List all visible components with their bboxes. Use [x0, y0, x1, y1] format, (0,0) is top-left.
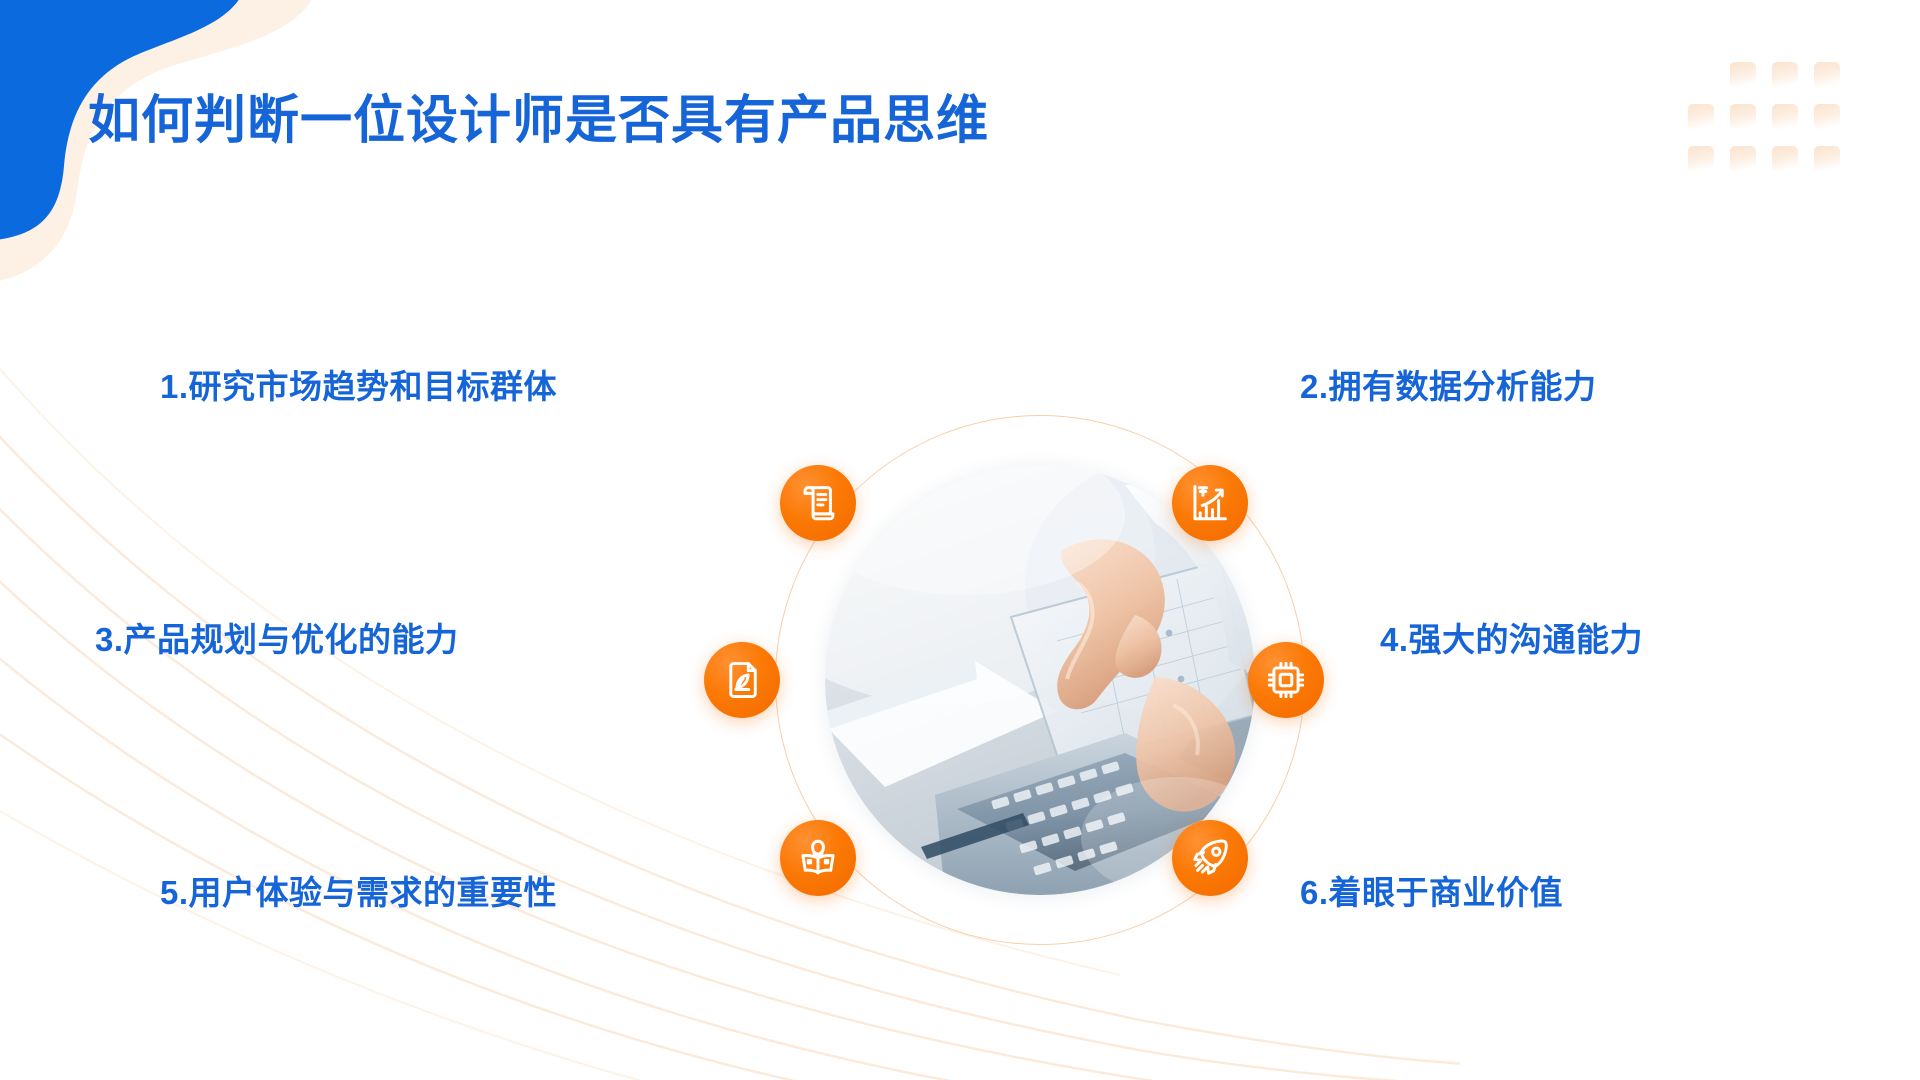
scroll-document-icon [797, 482, 839, 524]
item-label-1: 1.研究市场趋势和目标群体 [160, 360, 557, 408]
item-label-3: 3.产品规划与优化的能力 [95, 613, 459, 661]
rocket-icon [1189, 837, 1231, 879]
icon-badge-scroll-document[interactable] [780, 465, 856, 541]
cpu-chip-icon [1265, 659, 1307, 701]
page-title: 如何判断一位设计师是否具有产品思维 [88, 90, 989, 152]
item-label-5: 5.用户体验与需求的重要性 [160, 866, 557, 914]
icon-badge-bar-chart-growth[interactable] [1172, 465, 1248, 541]
item-label-4: 4.强大的沟通能力 [1380, 613, 1643, 661]
document-quill-icon [721, 659, 763, 701]
slide-canvas: 如何判断一位设计师是否具有产品思维 [0, 0, 1920, 1080]
icon-badge-cpu-chip[interactable] [1248, 642, 1324, 718]
icon-badge-rocket[interactable] [1172, 820, 1248, 896]
icon-badge-person-reading-book[interactable] [780, 820, 856, 896]
bar-chart-growth-icon [1189, 482, 1231, 524]
item-label-6: 6.着眼于商业价值 [1300, 866, 1563, 914]
dot-grid-decoration [1662, 56, 1872, 186]
person-reading-book-icon [797, 837, 839, 879]
capability-wheel [760, 400, 1320, 960]
icon-badge-document-quill[interactable] [704, 642, 780, 718]
item-label-2: 2.拥有数据分析能力 [1300, 360, 1597, 408]
